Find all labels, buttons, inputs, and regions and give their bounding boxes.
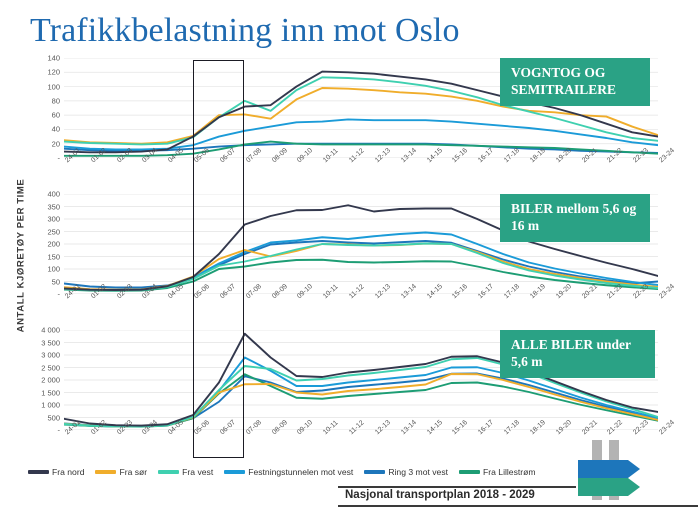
callout-alle-biler: ALLE BILER under 5,6 m — [500, 330, 655, 378]
legend-item-fra_lillestrom[interactable]: Fra Lillestrøm — [459, 467, 536, 477]
x-tick-label: 23-24 — [658, 283, 676, 300]
legend-swatch-icon — [95, 470, 116, 473]
y-tick-label: 2 500 — [41, 363, 60, 372]
y-tick-label: - — [58, 426, 61, 435]
legend-label: Fra nord — [52, 467, 84, 477]
legend-label: Fra vest — [182, 467, 213, 477]
y-tick-label: 400 — [47, 190, 60, 199]
footer-rule-top — [338, 486, 576, 488]
slide-canvas: Trafikkbelastning inn mot Oslo ANTALL KJ… — [0, 0, 700, 517]
legend-item-fra_nord[interactable]: Fra nord — [28, 467, 84, 477]
legend-item-festningstunnelen[interactable]: Festningstunnelen mot vest — [224, 467, 353, 477]
y-tick-label: 100 — [47, 265, 60, 274]
y-tick-label: - — [58, 290, 61, 299]
y-tick-label: 80 — [52, 96, 60, 105]
legend-item-fra_sor[interactable]: Fra sør — [95, 467, 147, 477]
legend-swatch-icon — [158, 470, 179, 473]
series-line — [64, 241, 658, 288]
x-axis-ticks: 24-0101-0202-0303-0404-0505-0606-0707-08… — [64, 159, 658, 191]
legend-swatch-icon — [28, 470, 49, 473]
y-tick-label: 200 — [47, 240, 60, 249]
callout-biler-mellom: BILER mellom 5,6 og 16 m — [500, 194, 650, 242]
y-axis-ticks: -50100150200250300350400 — [28, 194, 62, 294]
x-tick-label: 23-24 — [658, 147, 676, 164]
y-axis-ticks: -20406080100120140 — [28, 58, 62, 158]
y-tick-label: 50 — [52, 277, 60, 286]
x-axis-ticks: 24-0101-0202-0303-0404-0505-0606-0707-08… — [64, 295, 658, 327]
chart-legend: Fra nordFra sørFra vestFestningstunnelen… — [28, 464, 648, 480]
y-tick-label: 60 — [52, 111, 60, 120]
y-tick-label: - — [58, 154, 61, 163]
y-tick-label: 100 — [47, 82, 60, 91]
y-tick-label: 150 — [47, 252, 60, 261]
y-tick-label: 500 — [47, 413, 60, 422]
legend-swatch-icon — [364, 470, 385, 473]
y-tick-label: 40 — [52, 125, 60, 134]
y-tick-label: 2 000 — [41, 376, 60, 385]
y-tick-label: 250 — [47, 227, 60, 236]
legend-swatch-icon — [459, 470, 480, 473]
page-title: Trafikkbelastning inn mot Oslo — [30, 12, 460, 50]
legend-item-fra_vest[interactable]: Fra vest — [158, 467, 213, 477]
y-tick-label: 4 000 — [41, 326, 60, 335]
y-axis-ticks: -5001 0001 5002 0002 5003 0003 5004 000 — [28, 330, 62, 430]
ntp-logo — [578, 434, 650, 506]
y-tick-label: 3 500 — [41, 338, 60, 347]
legend-item-ring3[interactable]: Ring 3 mot vest — [364, 467, 448, 477]
y-axis-caption: ANTALL KJØRETØY PER TIME — [16, 161, 27, 351]
legend-label: Ring 3 mot vest — [388, 467, 448, 477]
legend-label: Fra Lillestrøm — [483, 467, 536, 477]
callout-vogntog: VOGNTOG OG SEMITRAILERE — [500, 58, 650, 106]
y-tick-label: 20 — [52, 139, 60, 148]
y-tick-label: 3 000 — [41, 351, 60, 360]
y-tick-label: 120 — [47, 68, 60, 77]
y-tick-label: 1 500 — [41, 388, 60, 397]
y-tick-label: 300 — [47, 215, 60, 224]
y-tick-label: 350 — [47, 202, 60, 211]
footer-text: Nasjonal transportplan 2018 - 2029 — [345, 489, 535, 501]
y-tick-label: 140 — [47, 54, 60, 63]
y-tick-label: 1 000 — [41, 401, 60, 410]
legend-swatch-icon — [224, 470, 245, 473]
legend-label: Festningstunnelen mot vest — [248, 467, 353, 477]
x-axis-ticks: 24-0101-0202-0303-0404-0505-0606-0707-08… — [64, 431, 658, 463]
x-tick-label: 23-24 — [658, 419, 676, 436]
legend-label: Fra sør — [119, 467, 147, 477]
